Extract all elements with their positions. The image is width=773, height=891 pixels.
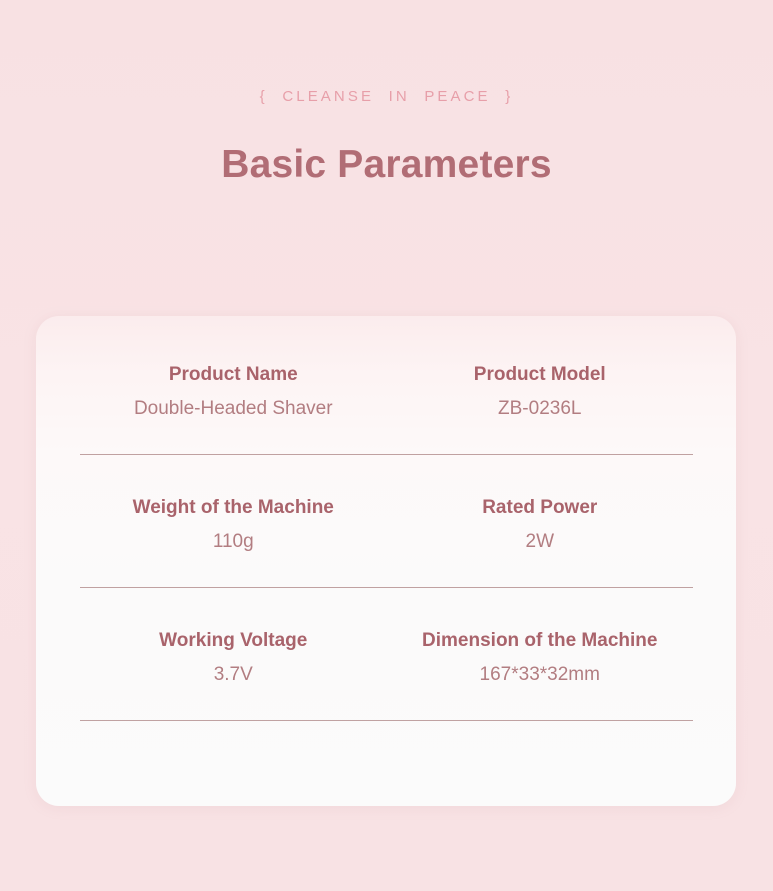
spec-value: Double-Headed Shaver	[80, 396, 387, 422]
page-title: Basic Parameters	[0, 142, 773, 188]
spec-cell: Product Model ZB-0236L	[387, 362, 694, 422]
spec-cell: Rated Power 2W	[387, 495, 694, 555]
page-header: { CLEANSE IN PEACE } Basic Parameters	[0, 0, 773, 188]
spec-cell: Product Name Double-Headed Shaver	[80, 362, 387, 422]
spec-label: Dimension of the Machine	[387, 628, 694, 654]
spec-cell: Dimension of the Machine 167*33*32mm	[387, 628, 694, 688]
spec-value: 3.7V	[80, 662, 387, 688]
table-row: Working Voltage 3.7V Dimension of the Ma…	[80, 628, 693, 761]
table-row: Weight of the Machine 110g Rated Power 2…	[80, 495, 693, 628]
table-row: Product Name Double-Headed Shaver Produc…	[80, 362, 693, 495]
spec-label: Rated Power	[387, 495, 694, 521]
spec-cell: Weight of the Machine 110g	[80, 495, 387, 555]
row-divider	[80, 587, 693, 588]
spec-label: Weight of the Machine	[80, 495, 387, 521]
spec-value: 110g	[80, 529, 387, 555]
spec-value: ZB-0236L	[387, 396, 694, 422]
spec-table: Product Name Double-Headed Shaver Produc…	[80, 362, 693, 761]
spec-value: 2W	[387, 529, 694, 555]
row-divider	[80, 720, 693, 721]
spec-value: 167*33*32mm	[387, 662, 694, 688]
row-divider	[80, 454, 693, 455]
spec-cell: Working Voltage 3.7V	[80, 628, 387, 688]
brand-tagline: { CLEANSE IN PEACE }	[0, 86, 773, 108]
product-spec-page: { CLEANSE IN PEACE } Basic Parameters Pr…	[0, 0, 773, 891]
spec-label: Product Name	[80, 362, 387, 388]
spec-label: Product Model	[387, 362, 694, 388]
spec-label: Working Voltage	[80, 628, 387, 654]
spec-card: Product Name Double-Headed Shaver Produc…	[36, 316, 736, 806]
